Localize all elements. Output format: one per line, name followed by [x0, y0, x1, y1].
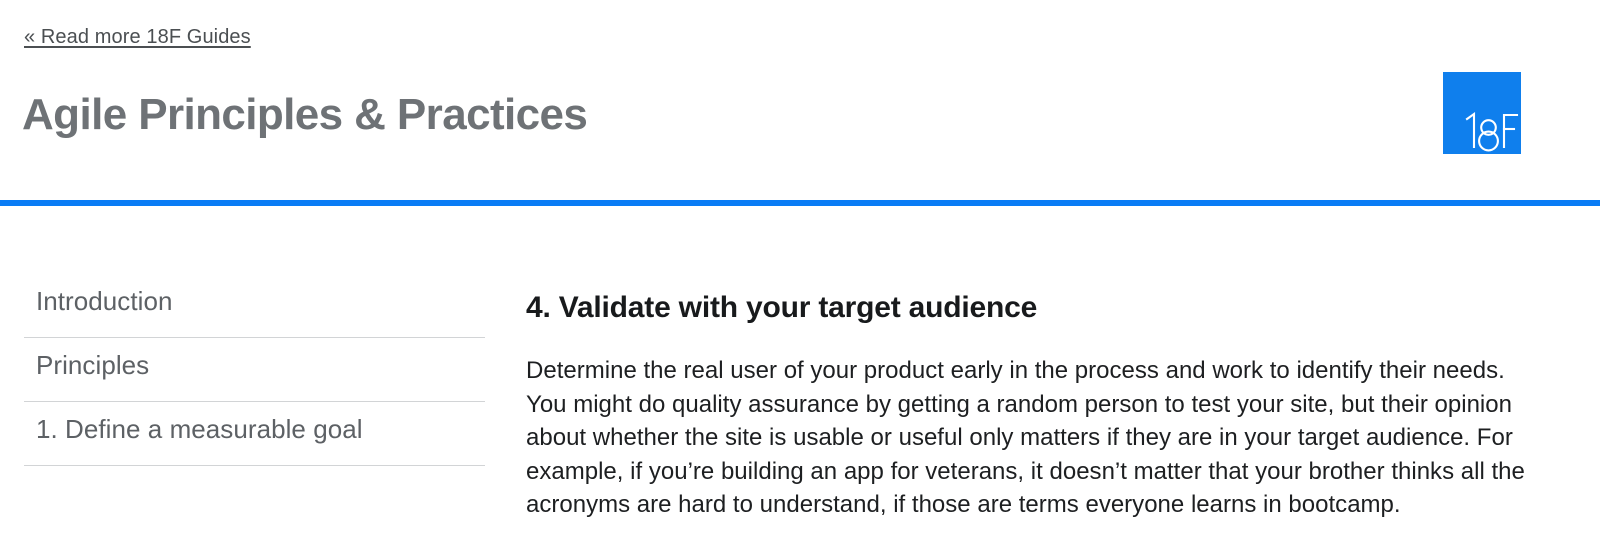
18f-logo[interactable] [1443, 72, 1521, 154]
18f-logo-mark [1463, 107, 1519, 153]
sidebar-item-define-a-measurable-goal[interactable]: 1. Define a measurable goal [24, 402, 485, 465]
page-header: « Read more 18F Guides Agile Principles … [0, 0, 1600, 200]
list-item: Principles [24, 338, 485, 402]
section-paragraph: Determine the real user of your product … [526, 354, 1545, 522]
content-area: Introduction Principles 1. Define a meas… [0, 206, 1600, 548]
back-to-guides-link[interactable]: « Read more 18F Guides [24, 24, 251, 50]
sidebar-item-introduction[interactable]: Introduction [24, 274, 485, 337]
page-title: Agile Principles & Practices [22, 86, 587, 144]
section-heading: 4. Validate with your target audience [526, 290, 1545, 326]
list-item: 1. Define a measurable goal [24, 402, 485, 466]
article-body: 4. Validate with your target audience De… [485, 206, 1545, 522]
toc-list: Introduction Principles 1. Define a meas… [0, 274, 485, 466]
sidebar-item-principles[interactable]: Principles [24, 338, 485, 401]
table-of-contents: Introduction Principles 1. Define a meas… [0, 206, 485, 466]
list-item: Introduction [24, 274, 485, 338]
